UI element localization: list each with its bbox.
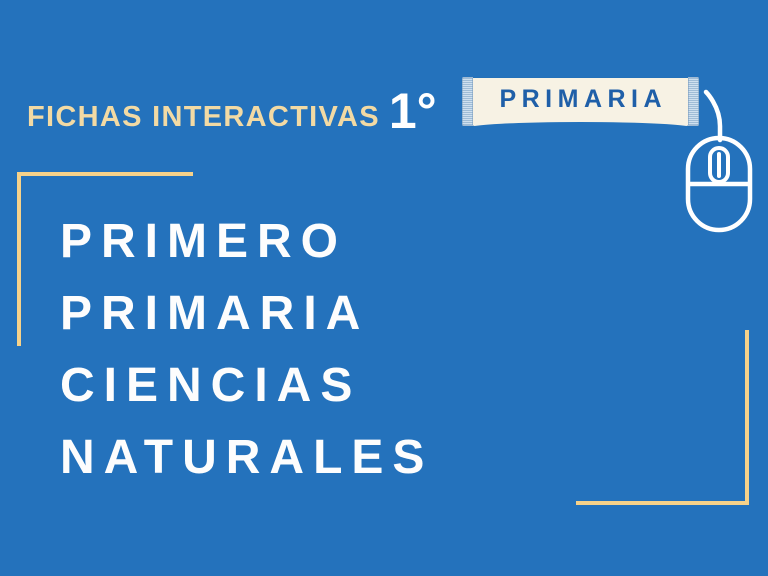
computer-mouse-icon (676, 86, 760, 234)
headline-line-1: PRIMERO (60, 206, 680, 278)
headline-line-4: NATURALES (60, 422, 680, 494)
grade-ordinal: 1° (389, 86, 437, 136)
slide-canvas: FICHAS INTERACTIVAS 1° PRIMARIA PRIMERO … (0, 0, 768, 576)
corner-bracket-bottom-right-vertical (745, 330, 749, 505)
eyebrow-label: FICHAS INTERACTIVAS (27, 103, 380, 132)
headline-line-3: CIENCIAS (60, 350, 680, 422)
corner-bracket-top-left-horizontal (17, 172, 193, 176)
primaria-ribbon-banner: PRIMARIA (462, 77, 699, 126)
corner-bracket-top-left-vertical (17, 172, 21, 346)
page-title: PRIMERO PRIMARIA CIENCIAS NATURALES (60, 206, 680, 494)
eyebrow-line: FICHAS INTERACTIVAS 1° (27, 84, 437, 132)
corner-bracket-bottom-right-horizontal (576, 501, 749, 505)
headline-line-2: PRIMARIA (60, 278, 680, 350)
banner-label: PRIMARIA (469, 77, 692, 122)
